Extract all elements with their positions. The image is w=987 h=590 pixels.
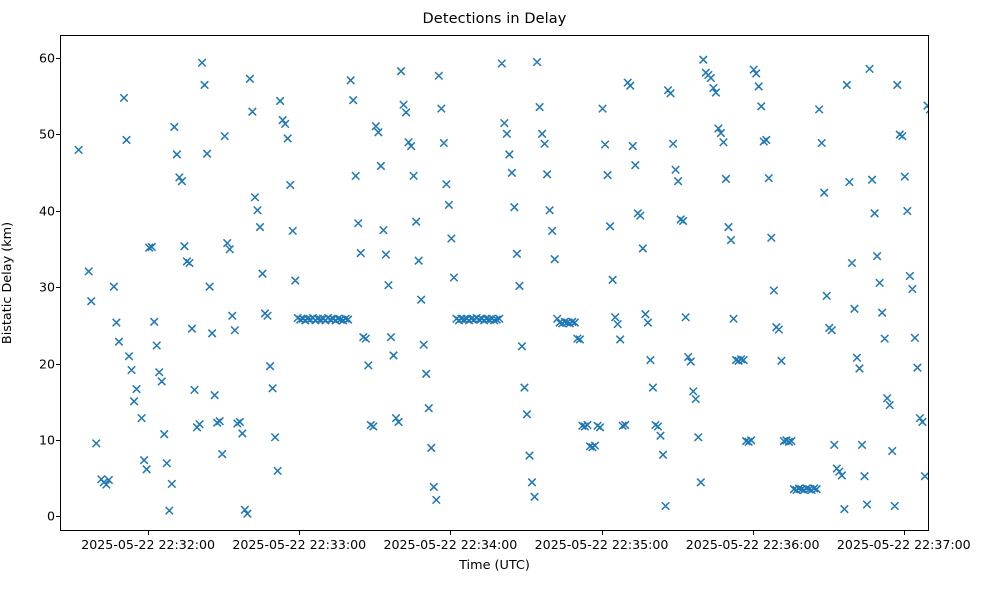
y-tick-label: 0 [47,509,55,524]
x-tick-label: 2025-05-22 22:36:00 [686,537,820,552]
x-tick-mark [602,531,603,535]
y-tick-label: 20 [39,356,55,371]
x-tick-mark [148,531,149,535]
y-tick-label: 50 [39,127,55,142]
y-tick-label: 60 [39,50,55,65]
x-tick-mark [450,531,451,535]
y-axis-label: Bistatic Delay (km) [0,222,15,344]
x-tick-label: 2025-05-22 22:33:00 [232,537,366,552]
x-tick-mark [904,531,905,535]
x-tick-label: 2025-05-22 22:34:00 [384,537,518,552]
y-tick-label: 10 [39,433,55,448]
x-tick-label: 2025-05-22 22:35:00 [535,537,669,552]
x-axis-label: Time (UTC) [60,558,929,573]
matplotlib-figure: Detections in Delay Bistatic Delay (km) … [0,0,987,590]
x-tick-label: 2025-05-22 22:32:00 [81,537,215,552]
y-tick-label: 30 [39,280,55,295]
x-tick-label: 2025-05-22 22:37:00 [837,537,971,552]
y-tick-label: 40 [39,203,55,218]
scatter-points [75,56,929,517]
plot-area [60,35,929,531]
x-tick-mark [753,531,754,535]
x-tick-mark [299,531,300,535]
scatter-series [61,36,929,531]
chart-title: Detections in Delay [60,11,929,27]
